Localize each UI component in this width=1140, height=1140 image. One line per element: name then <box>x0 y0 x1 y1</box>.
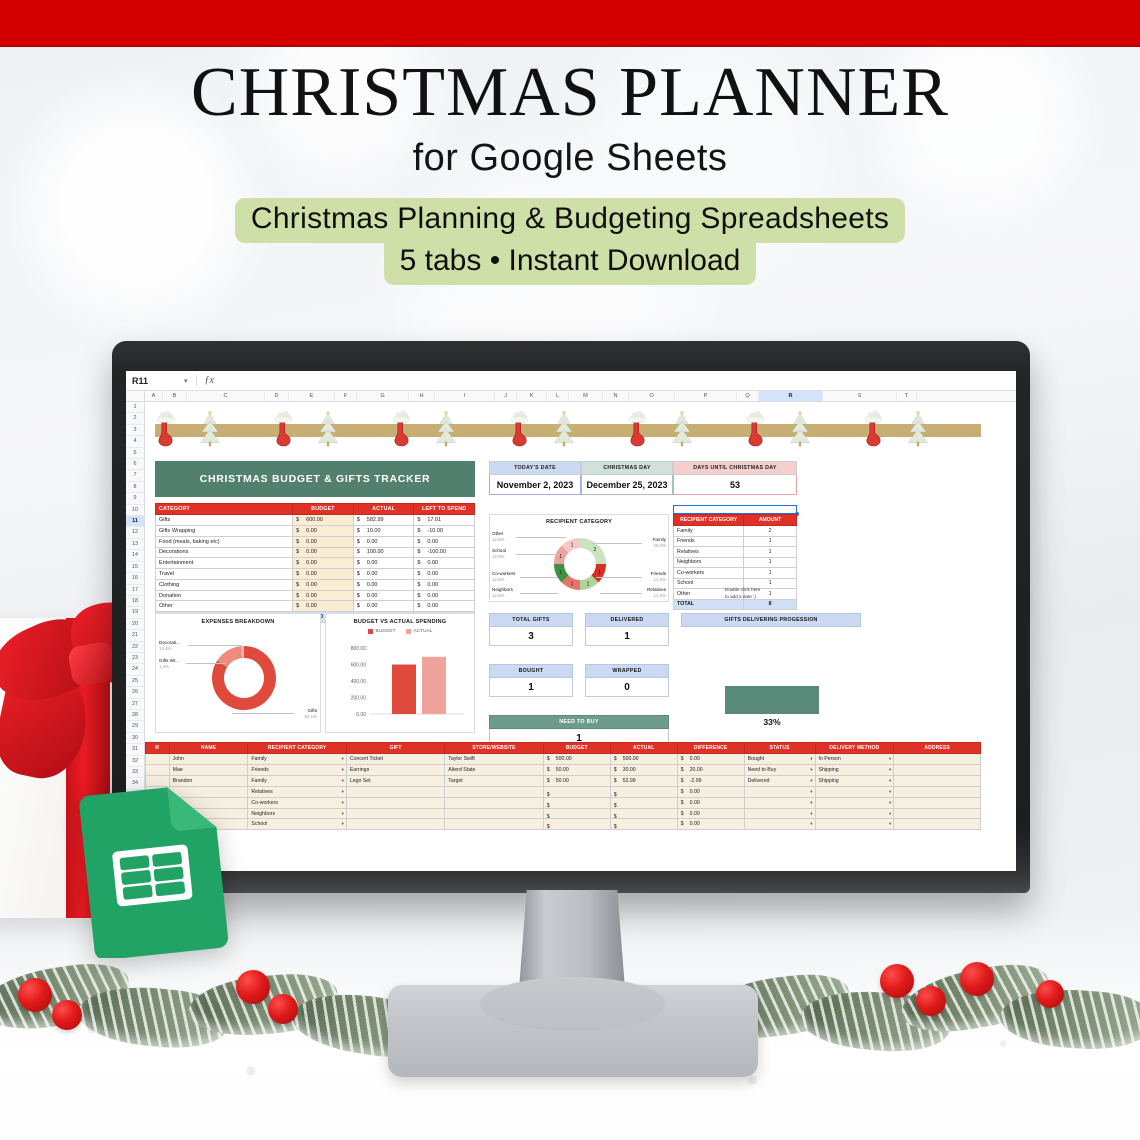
gifts-cell-budget[interactable]: $ <box>543 786 610 797</box>
chart-label-percent: 12.5% <box>492 554 506 560</box>
recipient-cell-category[interactable]: TOTAL <box>674 599 744 610</box>
gifts-cell-store[interactable]: Target <box>445 775 543 786</box>
chart-label: Gifts 84.1% <box>305 708 317 719</box>
stat-value: 3 <box>489 627 573 646</box>
chart-label-percent: 84.1% <box>305 714 317 720</box>
column-header-O[interactable]: O <box>629 391 675 401</box>
date-card-today: TODAY'S DATE November 2, 2023 <box>489 461 581 495</box>
budget-cell-actual[interactable]: $10.00 <box>353 525 414 536</box>
recipient-cell-amount[interactable]: 1 <box>744 547 797 558</box>
gifts-cell-address[interactable] <box>894 775 981 786</box>
y-axis-tick: 200.00 <box>351 696 367 702</box>
gifts-cell-delivery-method[interactable] <box>815 786 894 797</box>
budget-cell-actual[interactable]: $0.00 <box>353 536 414 547</box>
pie-data-label: 1 <box>598 570 601 576</box>
pie-data-label: 2 <box>593 547 596 553</box>
stat-card-wrapped: WRAPPED 0 <box>585 664 669 697</box>
column-header-N[interactable]: N <box>603 391 629 401</box>
row-header-29[interactable]: 29 <box>126 721 144 732</box>
christmas-tree-icon <box>199 410 221 450</box>
gifts-cell-delivery-method[interactable]: Shipping <box>815 765 894 776</box>
table-row[interactable]: TOTAL8 <box>674 599 797 610</box>
gifts-cell-delivery-method[interactable] <box>815 808 894 819</box>
row-header-3[interactable]: 3 <box>126 425 144 436</box>
formula-bar[interactable]: R11 ▾ ƒx <box>126 371 1016 391</box>
budget-cell-budget[interactable]: $0.00 <box>293 579 354 590</box>
table-row[interactable]: School$$$0.00 <box>146 819 981 830</box>
gifts-cell-gift[interactable]: Concert Ticket <box>346 754 444 765</box>
page-subtitle: for Google Sheets <box>0 137 1140 180</box>
chart-label-name: Relatives <box>647 587 666 592</box>
gifts-cell-gift[interactable]: Lego Set <box>346 775 444 786</box>
table-row[interactable]: Neighbors$$$0.00 <box>146 808 981 819</box>
budget-cell-left[interactable]: $0.00 <box>414 590 475 601</box>
gifts-cell-budget[interactable]: $ <box>543 819 610 830</box>
table-row[interactable]: Friends1 <box>674 536 797 547</box>
table-row[interactable]: Travel$0.00$0.00$0.00 <box>156 569 475 580</box>
chart-label-name: Decorati... <box>159 640 180 645</box>
chart-label-name: Family <box>652 537 666 542</box>
stat-card-total-gifts: TOTAL GIFTS 3 <box>489 613 573 646</box>
gifts-col-5: BUDGET <box>543 743 610 754</box>
row-header-13[interactable]: 13 <box>126 539 144 550</box>
gifts-cell-recipient-category[interactable]: Neighbors <box>248 808 346 819</box>
table-row[interactable]: Other$0.00$0.00$0.00 <box>156 601 475 612</box>
column-header-Q[interactable]: Q <box>737 391 759 401</box>
gifts-cell-budget[interactable]: $500.00 <box>543 754 610 765</box>
gifts-cell-actual[interactable]: $ <box>610 819 677 830</box>
row-header-8[interactable]: 8 <box>126 482 144 493</box>
progression-panel <box>681 613 861 733</box>
budget-cell-left[interactable]: $0.00 <box>414 601 475 612</box>
table-row[interactable]: Relatives1 <box>674 547 797 558</box>
gifts-cell-status[interactable]: Bought <box>744 754 815 765</box>
row-header-33[interactable]: 33 <box>126 767 144 778</box>
row-header-32[interactable]: 32 <box>126 756 144 767</box>
table-header-row: RECIPIENT CATEGORYAMOUNT <box>674 515 797 526</box>
budget-cell-actual[interactable]: $0.00 <box>353 558 414 569</box>
gifts-cell-delivery-method[interactable]: Shipping <box>815 775 894 786</box>
gifts-col-3: GIFT <box>346 743 444 754</box>
recipient-cell-amount[interactable]: 1 <box>744 536 797 547</box>
gifts-cell-recipient-category[interactable]: Friends <box>248 765 346 776</box>
table-row[interactable]: Food (meals, baking etc)$0.00$0.00$0.00 <box>156 536 475 547</box>
function-icon: ƒx <box>196 375 214 386</box>
table-row[interactable]: Donation$0.00$0.00$0.00 <box>156 590 475 601</box>
recipient-cell-category[interactable]: Friends <box>674 536 744 547</box>
gifts-cell-difference[interactable]: $20.00 <box>677 765 744 776</box>
recipient-category-donut: 2111111 <box>490 527 670 601</box>
gifts-cell-name[interactable]: John <box>169 754 248 765</box>
gifts-cell-difference[interactable]: $0.00 <box>677 786 744 797</box>
column-header-R[interactable]: R <box>759 391 823 401</box>
gifts-cell-recipient-category[interactable]: Family <box>248 775 346 786</box>
stat-value: 1 <box>489 678 573 697</box>
budget-cell-category[interactable]: Food (meals, baking etc) <box>156 536 293 547</box>
gifts-cell-gift[interactable]: Earrings <box>346 765 444 776</box>
budget-table[interactable]: CATEGORYBUDGETACTUALLEFT TO SPEND Gifts$… <box>155 503 475 623</box>
budget-cell-budget[interactable]: $600.00 <box>293 515 354 526</box>
pie-data-label: 1 <box>571 543 574 549</box>
chevron-down-icon[interactable]: ▾ <box>184 377 188 385</box>
table-row[interactable]: Gifts Wrapping$0.00$10.00$-10.00 <box>156 525 475 536</box>
gifts-col-0: R <box>146 743 170 754</box>
table-row[interactable]: Co-workers1 <box>674 568 797 579</box>
stat-label: TOTAL GIFTS <box>489 613 573 627</box>
column-header-S[interactable]: S <box>823 391 897 401</box>
table-row[interactable]: Decorations$0.00$100.00$-100.00 <box>156 547 475 558</box>
chart-label: School 12.5% <box>492 548 506 559</box>
row-header-30[interactable]: 30 <box>126 733 144 744</box>
gifts-col-4: STORE/WEBSITE <box>445 743 543 754</box>
gifts-cell-idx[interactable] <box>146 765 170 776</box>
gifts-cell-recipient-category[interactable]: Relatives <box>248 786 346 797</box>
y-axis-tick: 800.00 <box>351 646 367 652</box>
gifts-cell-actual[interactable]: $ <box>610 786 677 797</box>
recipient-cell-amount[interactable]: 1 <box>744 568 797 579</box>
chart-label-percent: 12.5% <box>647 593 666 599</box>
stat-value: 1 <box>585 627 669 646</box>
row-header-6[interactable]: 6 <box>126 459 144 470</box>
date-card-christmas: CHRISTMAS DAY December 25, 2023 <box>581 461 673 495</box>
budget-cell-budget[interactable]: $0.00 <box>293 547 354 558</box>
budget-cell-category[interactable]: Entertainment <box>156 558 293 569</box>
row-header-21[interactable]: 21 <box>126 630 144 641</box>
gifts-cell-status[interactable] <box>744 819 815 830</box>
gifts-cell-delivery-method[interactable] <box>815 819 894 830</box>
row-header-24[interactable]: 24 <box>126 664 144 675</box>
chart-leader-line <box>592 543 642 544</box>
chart-label: Gifts Wr... 1.4% <box>159 658 179 669</box>
column-header-L[interactable]: L <box>547 391 569 401</box>
recipient-cell-category[interactable]: Relatives <box>674 547 744 558</box>
recipient-cell-category[interactable]: Neighbors <box>674 557 744 568</box>
budget-cell-actual[interactable]: $0.00 <box>353 601 414 612</box>
chart-label-percent: 12.5% <box>651 577 666 583</box>
gifts-cell-actual[interactable]: $30.00 <box>610 765 677 776</box>
table-row[interactable]: JohnFamilyConcert TicketTaylor Swift$500… <box>146 754 981 765</box>
feature-pill-primary: Christmas Planning & Budgeting Spreadshe… <box>235 198 905 243</box>
pie-data-label: 1 <box>559 570 562 576</box>
date-card-label: CHRISTMAS DAY <box>581 461 673 475</box>
budget-cell-budget[interactable]: $0.00 <box>293 536 354 547</box>
gifts-cell-idx[interactable] <box>146 754 170 765</box>
date-card-label: TODAY'S DATE <box>489 461 581 475</box>
gifts-cell-delivery-method[interactable]: In Person <box>815 754 894 765</box>
chart-label-name: School <box>492 548 506 553</box>
budget-cell-category[interactable]: Other <box>156 601 293 612</box>
row-header-14[interactable]: 14 <box>126 550 144 561</box>
chart-leader-line <box>596 577 642 578</box>
table-row[interactable]: Relatives$$$0.00 <box>146 786 981 797</box>
pie-data-label: 1 <box>587 581 590 587</box>
gifts-cell-delivery-method[interactable] <box>815 797 894 808</box>
row-header-19[interactable]: 19 <box>126 607 144 618</box>
budget-cell-budget[interactable]: $0.00 <box>293 601 354 612</box>
row-header-10[interactable]: 10 <box>126 505 144 516</box>
chart-label-percent: 12.5% <box>492 577 515 583</box>
gifts-cell-status[interactable] <box>744 797 815 808</box>
recipient-cell-amount[interactable]: 1 <box>744 557 797 568</box>
column-header-P[interactable]: P <box>675 391 737 401</box>
row-header-27[interactable]: 27 <box>126 699 144 710</box>
legend-swatch <box>368 629 373 634</box>
date-card-value[interactable]: 53 <box>673 475 797 495</box>
chart-label: Decorati... 14.4% <box>159 640 180 651</box>
gifts-cell-recipient-category[interactable]: School <box>248 819 346 830</box>
row-header-4[interactable]: 4 <box>126 436 144 447</box>
chart-leader-line <box>186 663 226 664</box>
budget-vs-actual-chart-panel: BUDGET VS ACTUAL SPENDING BUDGET ACTUAL … <box>325 613 475 733</box>
table-header-row: CATEGORYBUDGETACTUALLEFT TO SPEND <box>156 504 475 515</box>
budget-cell-budget[interactable]: $0.00 <box>293 558 354 569</box>
row-header-20[interactable]: 20 <box>126 619 144 630</box>
gifts-cell-store[interactable] <box>445 808 543 819</box>
gifts-col-7: DIFFERENCE <box>677 743 744 754</box>
stat-card-delivered: DELIVERED 1 <box>585 613 669 646</box>
christmas-tree-icon <box>317 410 339 450</box>
gifts-detail-table[interactable]: RNAMERECIPIENT CATEGORYGIFTSTORE/WEBSITE… <box>145 742 981 830</box>
chart-leader-line <box>516 537 566 538</box>
budget-cell-actual[interactable]: $0.00 <box>353 590 414 601</box>
gifts-cell-difference[interactable]: $0.00 <box>677 754 744 765</box>
christmas-border-graphic <box>155 404 981 456</box>
legend-item-budget: BUDGET <box>368 629 396 634</box>
chart-label-percent: 25.0% <box>652 543 666 549</box>
gifts-cell-difference[interactable]: $0.00 <box>677 819 744 830</box>
row-header-28[interactable]: 28 <box>126 710 144 721</box>
y-axis-tick: 400.00 <box>351 679 367 685</box>
gifts-cell-difference[interactable]: $0.00 <box>677 808 744 819</box>
row-header-15[interactable]: 15 <box>126 562 144 573</box>
gifts-cell-actual[interactable]: $ <box>610 797 677 808</box>
sheet-title-banner: CHRISTMAS BUDGET & GIFTS TRACKER <box>155 461 475 497</box>
chart-label: Neighbors 12.5% <box>492 587 513 598</box>
row-header-5[interactable]: 5 <box>126 448 144 459</box>
table-row[interactable]: Entertainment$0.00$0.00$0.00 <box>156 558 475 569</box>
stat-value: 0 <box>585 678 669 697</box>
column-header-B[interactable]: B <box>163 391 187 401</box>
stocking-icon <box>629 409 646 449</box>
gifts-cell-status[interactable] <box>744 808 815 819</box>
chart-title: EXPENSES BREAKDOWN <box>156 619 320 625</box>
column-header-T[interactable]: T <box>897 391 917 401</box>
column-header-C[interactable]: C <box>187 391 265 401</box>
row-header-11[interactable]: 11 <box>126 516 144 527</box>
budget-cell-category[interactable]: Travel <box>156 569 293 580</box>
column-header-E[interactable]: E <box>289 391 335 401</box>
date-card-value[interactable]: November 2, 2023 <box>489 475 581 495</box>
recipient-cell-amount[interactable]: 8 <box>744 599 797 610</box>
gifts-cell-actual[interactable]: $500.00 <box>610 754 677 765</box>
stat-card-bought: BOUGHT 1 <box>489 664 573 697</box>
chart-title: BUDGET VS ACTUAL SPENDING <box>326 619 474 625</box>
budget-cell-category[interactable]: Donation <box>156 590 293 601</box>
table-header-row: RNAMERECIPIENT CATEGORYGIFTSTORE/WEBSITE… <box>146 743 981 754</box>
column-header-J[interactable]: J <box>495 391 517 401</box>
gifts-cell-status[interactable]: Need to Buy <box>744 765 815 776</box>
google-sheets-icon <box>66 786 238 958</box>
gifts-col-6: ACTUAL <box>610 743 677 754</box>
chart-leader-line <box>232 713 294 714</box>
gifts-cell-address[interactable] <box>894 819 981 830</box>
budget-cell-actual[interactable]: $582.99 <box>353 515 414 526</box>
column-header-K[interactable]: K <box>517 391 547 401</box>
gifts-cell-budget[interactable]: $50.00 <box>543 765 610 776</box>
cell-selection-box[interactable] <box>673 505 797 514</box>
budget-cell-left[interactable]: $0.00 <box>414 536 475 547</box>
gifts-cell-actual[interactable]: $ <box>610 808 677 819</box>
gifts-cell-address[interactable] <box>894 797 981 808</box>
row-header-9[interactable]: 9 <box>126 493 144 504</box>
column-header-H[interactable]: H <box>409 391 435 401</box>
column-header-A[interactable]: A <box>145 391 163 401</box>
chart-label-name: Gifts <box>308 708 317 713</box>
row-header-7[interactable]: 7 <box>126 470 144 481</box>
page-title: CHRISTMAS PLANNER <box>0 55 1140 131</box>
budget-cell-budget[interactable]: $0.00 <box>293 590 354 601</box>
budget-cell-category[interactable]: Gifts Wrapping <box>156 525 293 536</box>
row-header-16[interactable]: 16 <box>126 573 144 584</box>
gifts-cell-store[interactable] <box>445 819 543 830</box>
row-header-25[interactable]: 25 <box>126 676 144 687</box>
chart-label: Friends 12.5% <box>651 571 666 582</box>
row-header-17[interactable]: 17 <box>126 585 144 596</box>
name-box[interactable]: R11 <box>132 376 184 386</box>
table-row[interactable]: BrandonFamilyLego SetTarget$50.00$52.99$… <box>146 775 981 786</box>
row-header-23[interactable]: 23 <box>126 653 144 664</box>
gifts-cell-gift[interactable] <box>346 786 444 797</box>
progression-label: GIFTS DELIVERING PROGESSION <box>681 613 861 627</box>
gifts-cell-store[interactable] <box>445 786 543 797</box>
spreadsheet-grid: 1234567891011121314151617181920212223242… <box>126 391 1016 871</box>
budget-cell-category[interactable]: Gifts <box>156 515 293 526</box>
chart-leader-line <box>600 593 642 594</box>
gifts-cell-difference[interactable]: $0.00 <box>677 797 744 808</box>
christmas-tree-icon <box>435 410 457 450</box>
chart-label: Relatives 12.5% <box>647 587 666 598</box>
budget-cell-left[interactable]: $-100.00 <box>414 547 475 558</box>
budget-cell-category[interactable]: Clothing <box>156 579 293 590</box>
poster-title-block: CHRISTMAS PLANNER for Google Sheets Chri… <box>0 55 1140 285</box>
row-header-1[interactable]: 1 <box>126 402 144 413</box>
gifts-cell-gift[interactable] <box>346 819 444 830</box>
budget-cell-left[interactable]: $0.00 <box>414 558 475 569</box>
stocking-icon <box>865 409 882 449</box>
gifts-col-2: RECIPIENT CATEGORY <box>248 743 346 754</box>
budget-cell-actual[interactable]: $0.00 <box>353 569 414 580</box>
gifts-cell-budget[interactable]: $50.00 <box>543 775 610 786</box>
budget-cell-actual[interactable]: $100.00 <box>353 547 414 558</box>
chart-leader-line <box>188 645 242 646</box>
recipient-cell-category[interactable]: Co-workers <box>674 568 744 579</box>
table-row[interactable]: Clothing$0.00$0.00$0.00 <box>156 579 475 590</box>
gifts-cell-address[interactable] <box>894 786 981 797</box>
gifts-cell-budget[interactable]: $ <box>543 808 610 819</box>
column-header-strip[interactable]: ABCDEFGHIJKLMNOPQRST <box>145 391 1016 402</box>
budget-cell-left[interactable]: $-10.00 <box>414 525 475 536</box>
gifts-cell-address[interactable] <box>894 765 981 776</box>
gifts-cell-budget[interactable]: $ <box>543 797 610 808</box>
monitor-bottom-bezel <box>112 871 1030 893</box>
gifts-col-8: STATUS <box>744 743 815 754</box>
gifts-cell-store[interactable]: Taylor Swift <box>445 754 543 765</box>
budget-cell-left[interactable]: $0.00 <box>414 569 475 580</box>
budget-cell-actual[interactable]: $0.00 <box>353 579 414 590</box>
gifts-cell-name[interactable]: Brandon <box>169 775 248 786</box>
christmas-tree-icon <box>789 410 811 450</box>
row-header-26[interactable]: 26 <box>126 687 144 698</box>
column-header-F[interactable]: F <box>335 391 357 401</box>
progression-bar <box>725 686 819 714</box>
recipient-col-0: RECIPIENT CATEGORY <box>674 515 744 526</box>
gifts-cell-gift[interactable] <box>346 797 444 808</box>
column-header-I[interactable]: I <box>435 391 495 401</box>
chart-label: Other 12.5% <box>492 531 504 542</box>
column-header-G[interactable]: G <box>357 391 409 401</box>
gifts-cell-address[interactable] <box>894 754 981 765</box>
budget-cell-left[interactable]: $0.00 <box>414 579 475 590</box>
chart-title: RECIPIENT CATEGORY <box>490 519 668 525</box>
date-card-value[interactable]: December 25, 2023 <box>581 475 673 495</box>
gifts-cell-recipient-category[interactable]: Co-workers <box>248 797 346 808</box>
gifts-cell-recipient-category[interactable]: Family <box>248 754 346 765</box>
bar-actual <box>422 657 446 714</box>
row-header-31[interactable]: 31 <box>126 744 144 755</box>
table-row[interactable]: MaeFriendsEarringsAlterd State$50.00$30.… <box>146 765 981 776</box>
gifts-cell-actual[interactable]: $52.99 <box>610 775 677 786</box>
column-header-D[interactable]: D <box>265 391 289 401</box>
gifts-cell-idx[interactable] <box>146 775 170 786</box>
row-header-2[interactable]: 2 <box>126 413 144 424</box>
gifts-cell-store[interactable]: Alterd State <box>445 765 543 776</box>
top-red-banner <box>0 0 1140 47</box>
row-header-18[interactable]: 18 <box>126 596 144 607</box>
stat-label: BOUGHT <box>489 664 573 678</box>
chart-label-name: Neighbors <box>492 587 513 592</box>
gifts-cell-gift[interactable] <box>346 808 444 819</box>
chart-label-name: Gifts Wr... <box>159 658 179 663</box>
monitor-stand-base <box>388 985 758 1077</box>
column-header-M[interactable]: M <box>569 391 603 401</box>
christmas-tree-icon <box>907 410 929 450</box>
gifts-cell-status[interactable]: Delivered <box>744 775 815 786</box>
expenses-breakdown-chart-panel: EXPENSES BREAKDOWN Decorati... 14.4%Gift… <box>155 613 321 733</box>
bar-budget <box>392 665 416 715</box>
gifts-cell-address[interactable] <box>894 808 981 819</box>
table-row[interactable]: Family2 <box>674 526 797 537</box>
stocking-icon <box>747 409 764 449</box>
recipient-cell-amount[interactable]: 2 <box>744 526 797 537</box>
gifts-cell-status[interactable] <box>744 786 815 797</box>
budget-cell-budget[interactable]: $0.00 <box>293 525 354 536</box>
budget-cell-category[interactable]: Decorations <box>156 547 293 558</box>
chart-leader-line <box>520 577 558 578</box>
gifts-cell-name[interactable]: Mae <box>169 765 248 776</box>
row-header-12[interactable]: 12 <box>126 527 144 538</box>
table-row[interactable]: Neighbors1 <box>674 557 797 568</box>
recipient-cell-category[interactable]: Family <box>674 526 744 537</box>
gifts-cell-difference[interactable]: $-2.99 <box>677 775 744 786</box>
table-row[interactable]: Gifts$600.00$582.99$17.01 <box>156 515 475 526</box>
table-row[interactable]: Co-workers$$$0.00 <box>146 797 981 808</box>
budget-cell-budget[interactable]: $0.00 <box>293 569 354 580</box>
gifts-cell-store[interactable] <box>445 797 543 808</box>
row-header-22[interactable]: 22 <box>126 642 144 653</box>
budget-cell-left[interactable]: $17.01 <box>414 515 475 526</box>
stocking-icon <box>157 409 174 449</box>
date-card-days-until: DAYS UNTIL CHRISTMAS DAY 53 <box>673 461 797 495</box>
